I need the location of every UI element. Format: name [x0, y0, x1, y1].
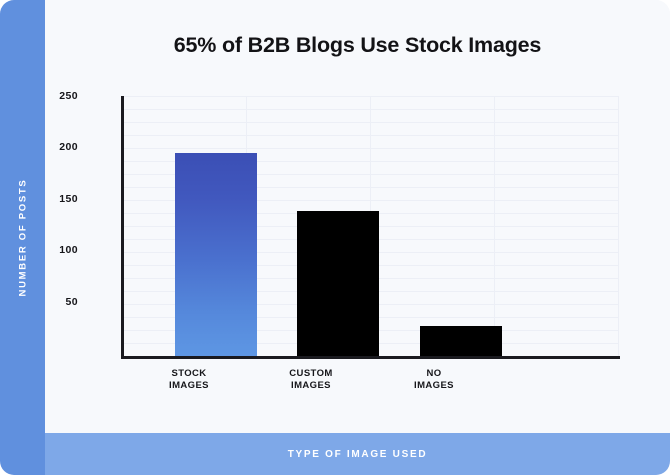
- chart-card: 65% of B2B Blogs Use Stock Images: [0, 0, 670, 475]
- x-axis-title-text: TYPE OF IMAGE USED: [288, 449, 428, 460]
- x-axis-band: TYPE OF IMAGE USED: [45, 433, 670, 475]
- chart-canvas: [45, 0, 670, 433]
- y-axis-title: NUMBER OF POSTS: [0, 0, 45, 475]
- y-axis-title-text: NUMBER OF POSTS: [17, 179, 28, 297]
